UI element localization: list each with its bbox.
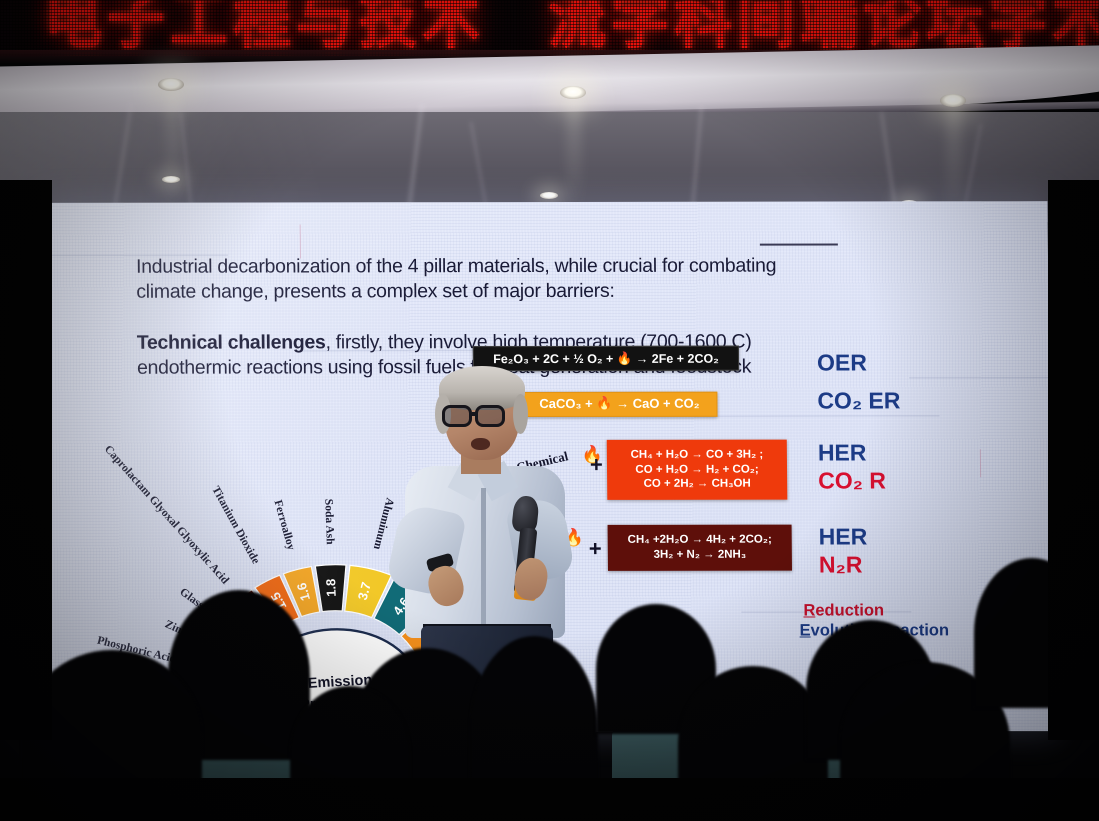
reaction-label-n2r: N₂R [819, 551, 863, 578]
legend-reduction-rest: eduction [815, 601, 884, 619]
reaction-label-co2r: CO₂ R [818, 467, 886, 494]
equation-box-ammonia-synthesis: CH₄ +2H₂O → 4H₂ + 2CO₂; 3H₂ + N₂ → 2NH₃ [608, 525, 792, 571]
foreground-shadow-band [0, 778, 1099, 821]
presenter-glasses-bridge [472, 412, 478, 416]
donut-category-label: Ferroalloy [271, 499, 297, 552]
slide-top-rule [760, 244, 838, 246]
equation-text-reforming-3: CO + 2H₂ → CH₃OH [643, 477, 750, 492]
donut-category-label: Caprolactam Glyoxal Glyoxylic Acid [102, 443, 232, 587]
equation-text-ammonia-2: 3H₂ + N₂ → 2NH₃ [653, 548, 746, 563]
reaction-label-her-1: HER [818, 439, 867, 466]
light-shaft [165, 88, 181, 208]
reaction-label-oer: OER [817, 349, 867, 376]
donut-category-label: Soda Ash [322, 499, 336, 546]
equation-text-iron-steel: Fe₂O₃ + 2C + ½ O₂ + 🔥 → 2Fe + 2CO₂ [493, 350, 719, 366]
legend-reduction-initial: R [803, 602, 815, 620]
reaction-label-co2er: CO₂ ER [817, 387, 900, 414]
equation-text-ammonia-1: CH₄ +2H₂O → 4H₂ + 2CO₂; [628, 533, 772, 548]
equation-text-reforming-1: CH₄ + H₂O → CO + 3H₂ ; [630, 448, 763, 463]
equation-box-methanol-reforming: CH₄ + H₂O → CO + 3H₂ ; CO + H₂O → H₂ + C… [607, 440, 788, 500]
presenter-glasses-left-lens [442, 405, 472, 427]
reaction-label-her-2: HER [819, 523, 868, 550]
presenter-mouth [471, 438, 490, 450]
right-wall-dark [1048, 180, 1099, 740]
equation-text-reforming-2: CO + H₂O → H₂ + CO₂; [635, 462, 758, 477]
light-shaft [566, 96, 582, 216]
presenter-glasses-right-lens [475, 405, 505, 427]
wall-light [540, 192, 558, 199]
slide-paragraph-1-line-1: Industrial decarbonization of the 4 pill… [136, 254, 776, 280]
donut-segment-value: 1.8 [323, 579, 339, 598]
legend-evolution-initial: E [799, 622, 810, 640]
donut-category-label: Titanium Dioxide [209, 484, 261, 566]
presenter-hair-side-right [513, 394, 528, 434]
legend-reduction: Reduction [803, 601, 884, 620]
led-banner: 电子工程与技术 流学科间端论坛学术报 [0, 0, 1099, 56]
slide-paragraph-1-line-2: climate change, presents a complex set o… [136, 279, 614, 305]
conference-hall-scene: 电子工程与技术 流学科间端论坛学术报 [0, 0, 1099, 821]
technical-challenges-bold: Technical challenges [137, 331, 326, 353]
presenter-shirt-placket [481, 488, 486, 638]
left-wall-dark [0, 180, 52, 740]
presenter-hair [439, 366, 525, 410]
